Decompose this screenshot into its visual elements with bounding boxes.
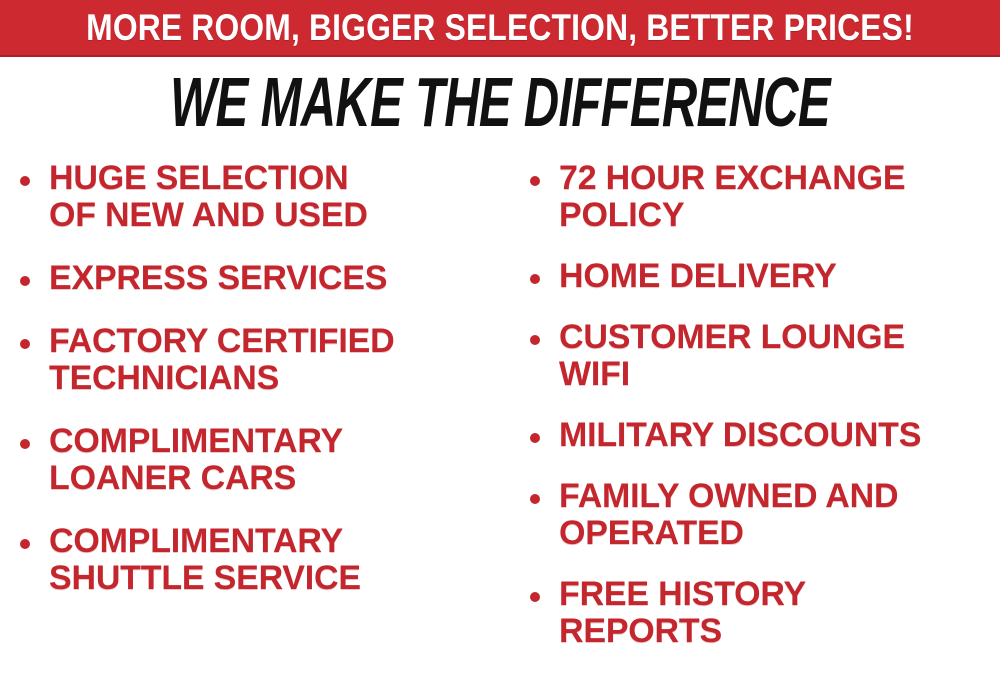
list-item-label: COMPLIMENTARY SHUTTLE SERVICE — [49, 523, 505, 597]
list-item-label: FREE HISTORY REPORTS — [559, 576, 1000, 650]
banner-headline-text: MORE ROOM, BIGGER SELECTION, BETTER PRIC… — [70, 0, 930, 55]
list-item: MILITARY DISCOUNTS — [530, 417, 1000, 454]
benefits-column-right: 72 HOUR EXCHANGE POLICY HOME DELIVERY CU… — [505, 160, 1000, 674]
list-item-label: MILITARY DISCOUNTS — [559, 417, 1000, 454]
list-item: EXPRESS SERVICES — [20, 260, 505, 297]
list-item: FREE HISTORY REPORTS — [530, 576, 1000, 650]
bullet-dot-icon — [530, 274, 540, 284]
list-item: HUGE SELECTION OF NEW AND USED — [20, 160, 505, 234]
list-item: FAMILY OWNED AND OPERATED — [530, 478, 1000, 552]
bullet-dot-icon — [20, 276, 30, 286]
list-item: COMPLIMENTARY SHUTTLE SERVICE — [20, 523, 505, 597]
benefits-column-left: HUGE SELECTION OF NEW AND USED EXPRESS S… — [0, 160, 505, 623]
bullet-dot-icon — [20, 439, 30, 449]
bullet-dot-icon — [530, 176, 540, 186]
benefits-columns: HUGE SELECTION OF NEW AND USED EXPRESS S… — [0, 160, 1000, 694]
bullet-dot-icon — [530, 433, 540, 443]
list-item: COMPLIMENTARY LOANER CARS — [20, 423, 505, 497]
list-item: HOME DELIVERY — [530, 258, 1000, 295]
bullet-dot-icon — [530, 592, 540, 602]
list-item-label: EXPRESS SERVICES — [49, 260, 505, 297]
bullet-dot-icon — [20, 176, 30, 186]
bullet-dot-icon — [20, 539, 30, 549]
list-item-label: 72 HOUR EXCHANGE POLICY — [559, 160, 1000, 234]
top-banner: MORE ROOM, BIGGER SELECTION, BETTER PRIC… — [0, 0, 1000, 57]
bullet-dot-icon — [530, 335, 540, 345]
list-item-label: COMPLIMENTARY LOANER CARS — [49, 423, 505, 497]
list-item-label: HOME DELIVERY — [559, 258, 1000, 295]
list-item: 72 HOUR EXCHANGE POLICY — [530, 160, 1000, 234]
bullet-dot-icon — [530, 494, 540, 504]
page-title: WE MAKE THE DIFFERENCE — [150, 66, 850, 138]
bullet-dot-icon — [20, 339, 30, 349]
list-item-label: HUGE SELECTION OF NEW AND USED — [49, 160, 505, 234]
promotional-poster: MORE ROOM, BIGGER SELECTION, BETTER PRIC… — [0, 0, 1000, 694]
list-item-label: CUSTOMER LOUNGE WIFI — [559, 319, 1000, 393]
list-item-label: FACTORY CERTIFIED TECHNICIANS — [49, 323, 505, 397]
list-item-label: FAMILY OWNED AND OPERATED — [559, 478, 1000, 552]
list-item: CUSTOMER LOUNGE WIFI — [530, 319, 1000, 393]
list-item: FACTORY CERTIFIED TECHNICIANS — [20, 323, 505, 397]
